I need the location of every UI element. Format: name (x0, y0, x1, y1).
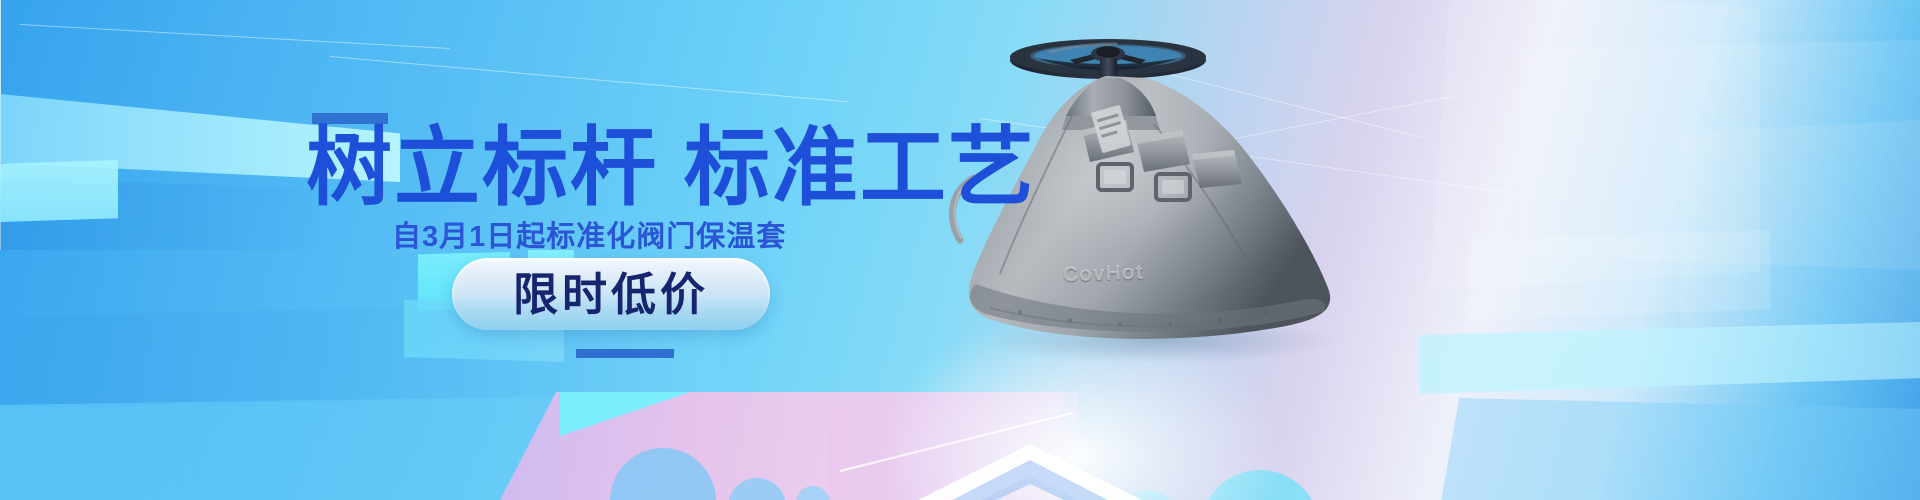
banner-content: 树立标杆 标准工艺 自3月1日起标准化阀门保温套 限时低价 (0, 0, 1920, 500)
banner-headline: 树立标杆 标准工艺 (306, 120, 1036, 216)
limited-time-price-button[interactable]: 限时低价 (452, 258, 770, 330)
cta-underline-bar (576, 349, 674, 358)
cta-button-label: 限时低价 (513, 272, 709, 317)
promo-banner: CovHot 树立标杆 标准工艺 自3月1日起标准化阀门保温套 限时低价 (0, 0, 1920, 500)
banner-subtitle: 自3月1日起标准化阀门保温套 (392, 213, 786, 255)
